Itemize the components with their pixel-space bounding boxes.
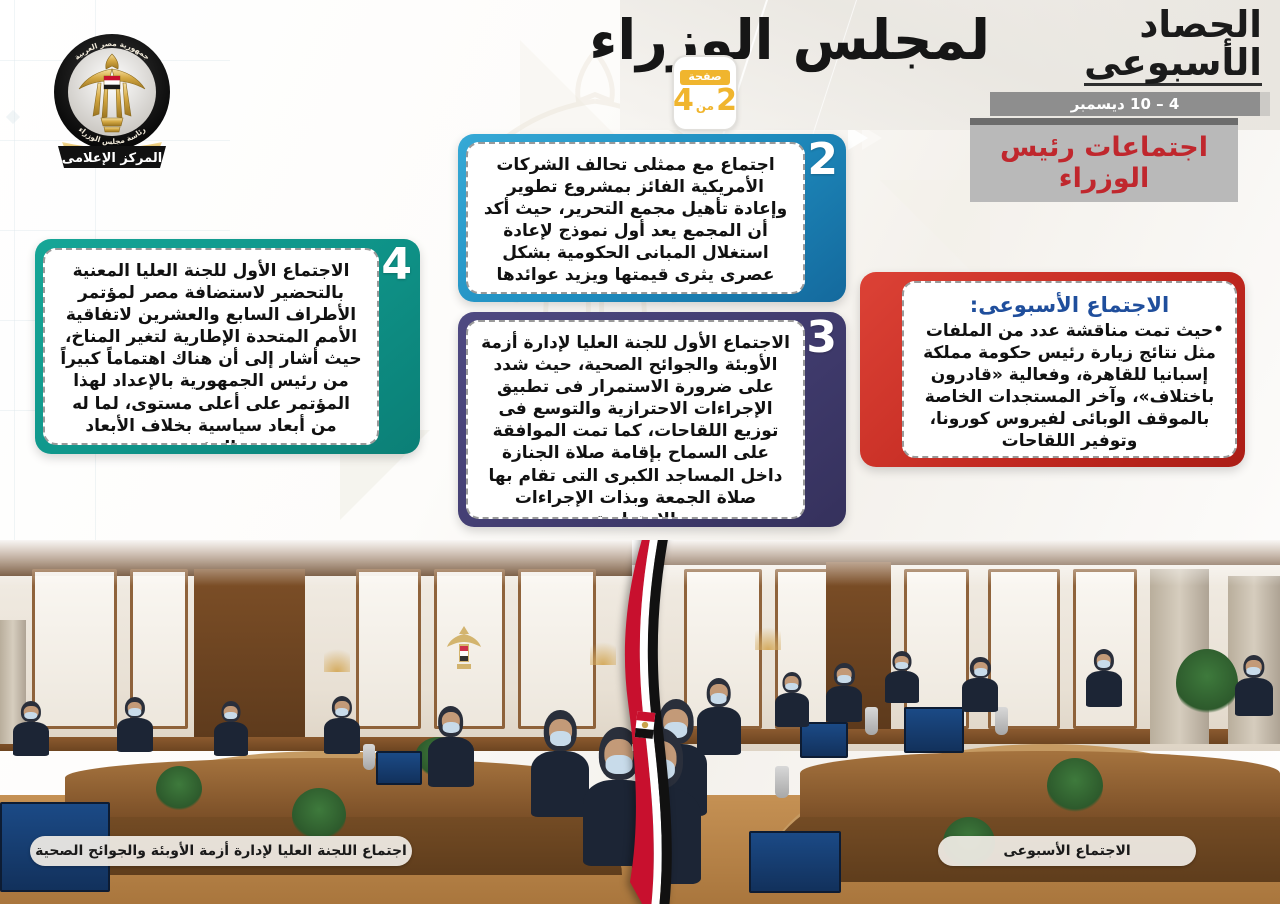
card-1-content: الاجتماع الأسبوعى: حيث تمت مناقشة عدد من… xyxy=(902,281,1237,458)
card-4-body: الاجتماع الأول للجنة العليا المعنية بالت… xyxy=(58,260,364,445)
header-title-line2: الأسبوعى xyxy=(1084,44,1262,82)
card-2-body: اجتماع مع ممثلى تحالف الشركات الأمريكية … xyxy=(481,154,790,287)
page-badge-of: من xyxy=(696,100,714,112)
wall-emblem-icon xyxy=(441,620,487,690)
card-4-number: 4 xyxy=(381,243,412,287)
card-2-content: اجتماع مع ممثلى تحالف الشركات الأمريكية … xyxy=(466,142,805,294)
card-4[interactable]: 4 الاجتماع الأول للجنة العليا المعنية با… xyxy=(35,239,420,454)
photo-left-caption: اجتماع اللجنة العليا لإدارة أزمة الأوبئة… xyxy=(30,836,412,866)
page-badge-total: 4 xyxy=(673,86,694,116)
page-badge-numbers: 2 من 4 xyxy=(673,86,737,116)
card-3-content: الاجتماع الأول للجنة العليا لإدارة أزمة … xyxy=(466,320,805,519)
section-banner-title: اجتماعات رئيس الوزراء xyxy=(980,133,1228,195)
card-3[interactable]: 3 الاجتماع الأول للجنة العليا لإدارة أزم… xyxy=(458,312,846,527)
photo-right-caption: الاجتماع الأسبوعى xyxy=(938,836,1196,866)
page-badge: صفحة 2 من 4 xyxy=(672,55,738,131)
section-banner: اجتماعات رئيس الوزراء xyxy=(970,118,1238,202)
card-2-number: 2 xyxy=(807,138,838,182)
logo-banner-text: المركز الإعلامى xyxy=(62,151,162,166)
cabinet-media-center-logo: جمهورية مصر العربية رئاسة مجلس الوزراء ا… xyxy=(42,26,182,182)
card-1-body: حيث تمت مناقشة عدد من الملفات مثل نتائج … xyxy=(917,320,1222,453)
card-3-body: الاجتماع الأول للجنة العليا لإدارة أزمة … xyxy=(481,332,790,519)
date-range-bar: 4 – 10 ديسمبر xyxy=(990,92,1260,116)
header-title-block: الحصاد الأسبوعى xyxy=(1084,6,1262,86)
card-4-content: الاجتماع الأول للجنة العليا المعنية بالت… xyxy=(43,248,379,445)
card-1[interactable]: 1 الاجتماع الأسبوعى: حيث تمت مناقشة عدد … xyxy=(860,272,1245,467)
page-badge-current: 2 xyxy=(716,86,737,116)
card-1-title: الاجتماع الأسبوعى: xyxy=(917,293,1222,317)
card-2[interactable]: 2 اجتماع مع ممثلى تحالف الشركات الأمريكي… xyxy=(458,134,846,302)
infographic-page: لمجلس الوزراء الحصاد الأسبوعى 4 – 10 ديس… xyxy=(0,0,1280,904)
photo-strip: اجتماع اللجنة العليا لإدارة أزمة الأوبئة… xyxy=(0,540,1280,904)
card-3-number: 3 xyxy=(806,316,837,360)
egypt-flag-divider-icon xyxy=(600,540,696,904)
brand-title: لمجلس الوزراء xyxy=(589,8,990,72)
header-title-line1: الحصاد xyxy=(1084,6,1262,44)
